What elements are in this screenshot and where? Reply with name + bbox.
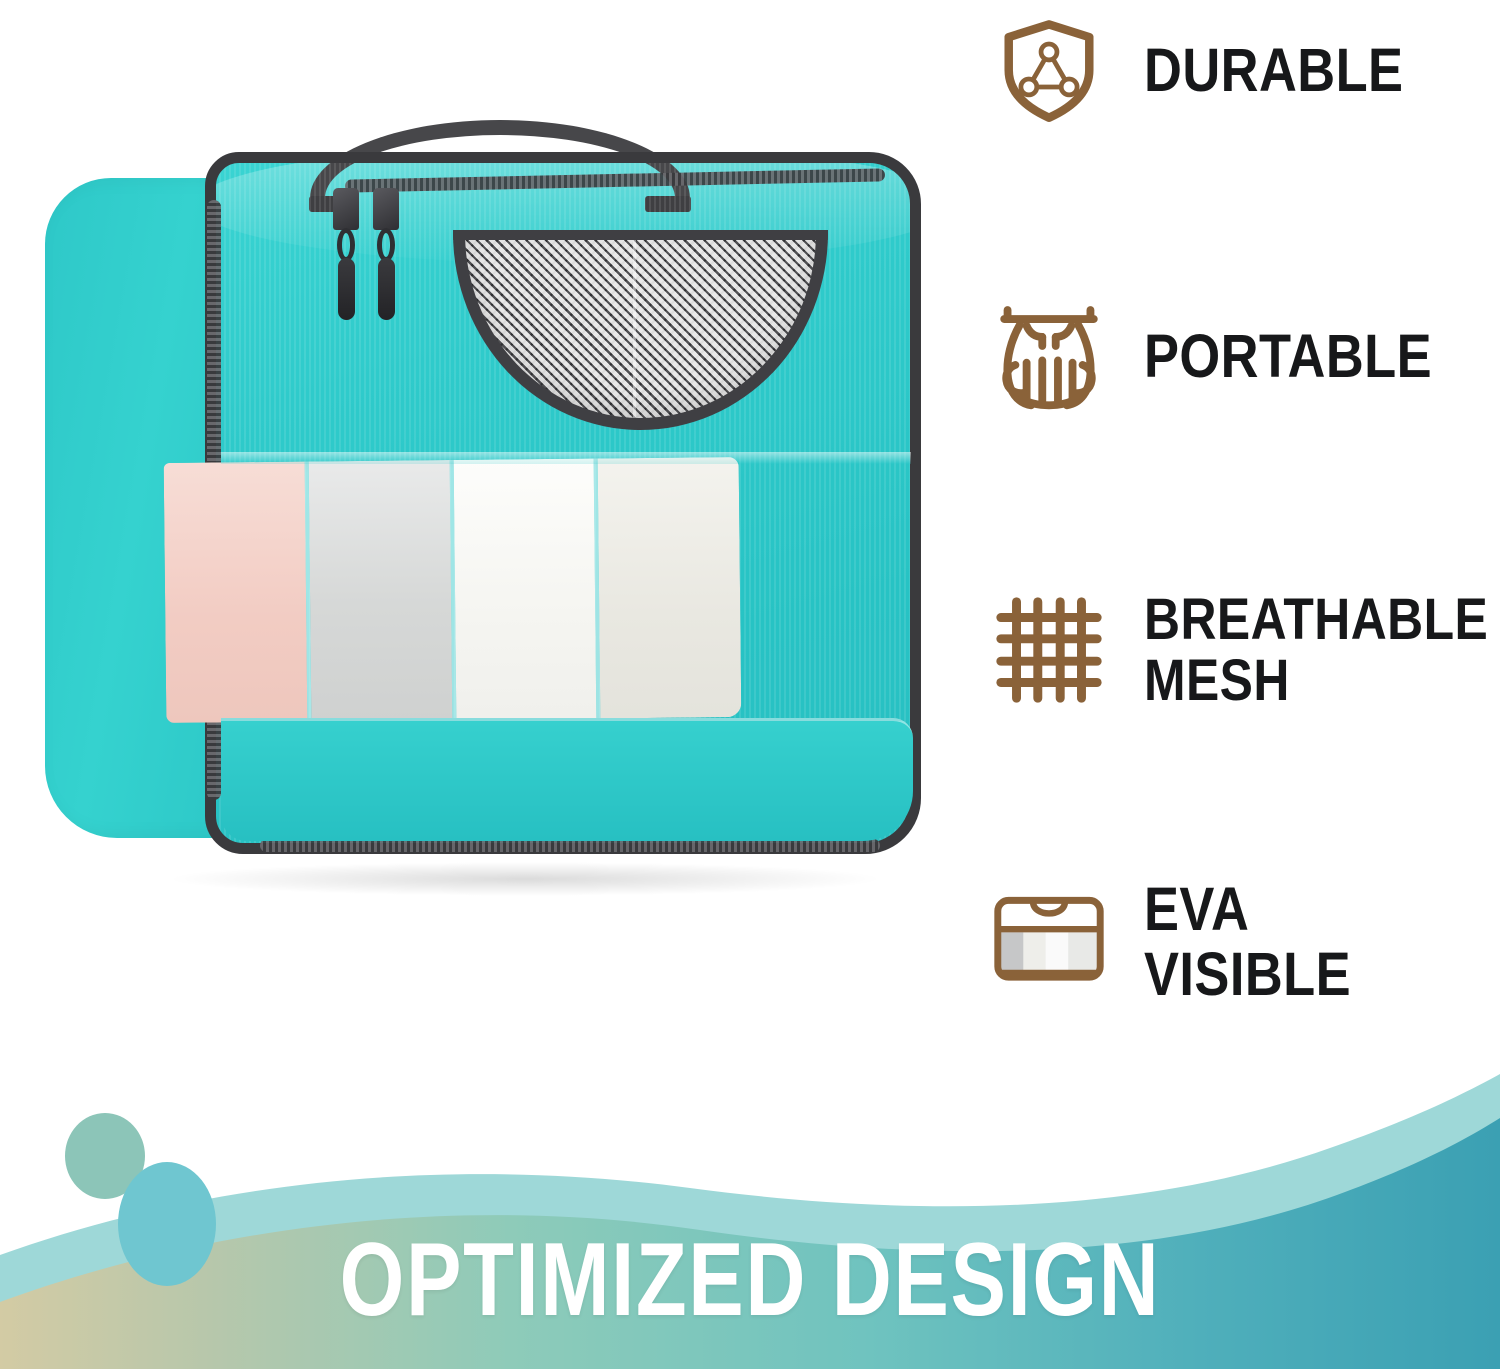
gray-folded-garment — [308, 460, 451, 721]
feature-durable: DURABLE — [990, 6, 1500, 134]
upper-seam — [221, 452, 911, 464]
feature-label-eva-visible: EVA VISIBLE — [1144, 877, 1450, 1006]
eva-visible-window — [164, 457, 742, 723]
feature-eva-visible: EVA VISIBLE — [990, 878, 1500, 1006]
zipper-slider — [373, 188, 399, 230]
feature-label-durable: DURABLE — [1144, 38, 1403, 103]
zipper-loop — [377, 228, 395, 262]
product-image-area — [0, 0, 990, 1060]
zipper-tab — [378, 258, 395, 320]
feature-breathable-mesh: BREATHABLE MESH — [990, 560, 1500, 740]
hand-grip-handle-icon — [990, 297, 1108, 415]
feature-list: DURABLE — [990, 0, 1500, 1060]
feature-label-breathable-mesh: BREATHABLE MESH — [1144, 589, 1488, 712]
zipper-tab — [338, 258, 355, 320]
visible-window-cube-icon — [990, 883, 1108, 1001]
packing-cube-product — [45, 130, 935, 870]
shield-triangle-icon — [990, 11, 1108, 129]
product-infographic: DURABLE — [0, 0, 1500, 1369]
feature-label-portable: PORTABLE — [1144, 324, 1432, 389]
white-folded-garment — [453, 459, 596, 720]
zipper-loop — [337, 228, 355, 262]
product-drop-shadow — [165, 862, 885, 896]
cream-folded-garment — [598, 457, 741, 718]
pink-folded-garment — [164, 462, 307, 723]
mesh-grid-icon — [990, 591, 1108, 709]
zipper-pulls — [333, 188, 453, 368]
banner-title: OPTIMIZED DESIGN — [150, 1228, 1350, 1332]
bag-bottom-band — [221, 718, 913, 841]
feature-portable: PORTABLE — [990, 292, 1500, 420]
zipper-slider — [333, 188, 359, 230]
mesh-seam — [633, 240, 636, 418]
zipper-pull-left — [333, 188, 359, 320]
zipper-pull-right — [373, 188, 399, 320]
